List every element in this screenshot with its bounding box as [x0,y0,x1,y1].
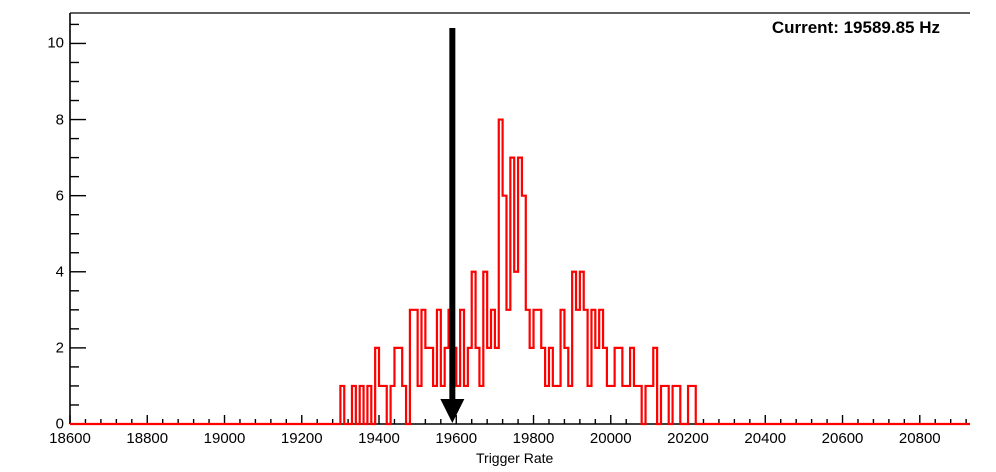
x-axis-title: Trigger Rate [476,450,553,466]
x-tick-label: 20800 [899,430,941,447]
y-tick-label: 8 [56,111,64,128]
current-marker-arrowhead [440,399,464,423]
x-tick-label: 19800 [513,430,555,447]
y-tick-label: 10 [47,35,64,52]
x-tick-label: 20400 [744,430,786,447]
x-tick-label: 20600 [822,430,864,447]
x-tick-label: 18800 [126,430,168,447]
histogram-plot [0,0,996,472]
x-tick-label: 20000 [590,430,632,447]
y-tick-label: 6 [56,187,64,204]
y-tick-label: 4 [56,263,64,280]
x-tick-label: 18600 [49,430,91,447]
y-tick-label: 0 [56,416,64,433]
histogram-outline [70,120,970,424]
x-tick-label: 19200 [281,430,323,447]
current-rate-annotation: Current: 19589.85 Hz [772,18,940,38]
y-tick-label: 2 [56,339,64,356]
root-canvas: Current: 19589.85 Hz Trigger Rate 186001… [0,0,996,472]
x-tick-label: 19400 [358,430,400,447]
x-tick-label: 20200 [667,430,709,447]
x-tick-label: 19600 [435,430,477,447]
x-tick-label: 19000 [204,430,246,447]
